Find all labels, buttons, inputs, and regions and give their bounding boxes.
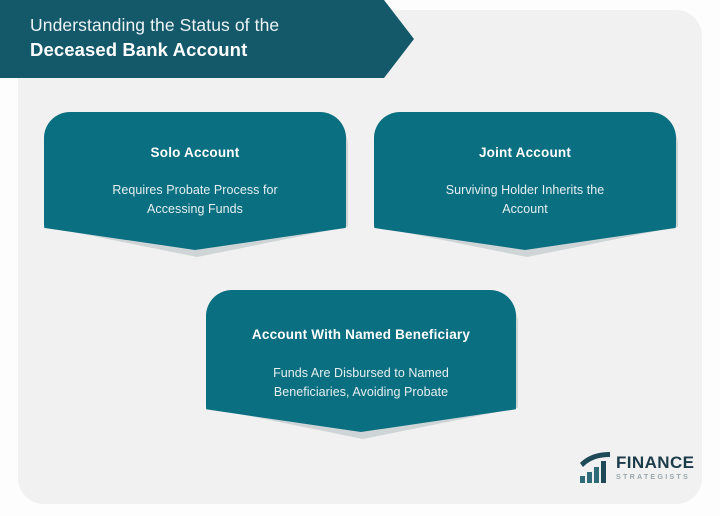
card-title: Account With Named Beneficiary xyxy=(252,326,470,344)
header-title-line2: Deceased Bank Account xyxy=(30,37,414,63)
logo-wordmark: FINANCE STRATEGISTS xyxy=(616,454,694,482)
logo-secondary-text: STRATEGISTS xyxy=(616,471,694,482)
card-description: Surviving Holder Inherits the Account xyxy=(425,181,625,219)
card-body: Joint Account Surviving Holder Inherits … xyxy=(374,112,676,250)
header-banner: Understanding the Status of the Deceased… xyxy=(0,0,414,78)
infographic-canvas: Understanding the Status of the Deceased… xyxy=(0,0,720,516)
header-title-line1: Understanding the Status of the xyxy=(30,13,414,37)
brand-logo: FINANCE STRATEGISTS xyxy=(578,448,698,488)
logo-primary-text: FINANCE xyxy=(616,454,694,471)
card-body: Account With Named Beneficiary Funds Are… xyxy=(206,290,516,432)
card-named-beneficiary-account: Account With Named Beneficiary Funds Are… xyxy=(206,290,516,432)
card-description: Requires Probate Process for Accessing F… xyxy=(95,181,295,219)
card-body: Solo Account Requires Probate Process fo… xyxy=(44,112,346,250)
card-description: Funds Are Disbursed to Named Beneficiari… xyxy=(245,364,477,402)
card-title: Joint Account xyxy=(479,144,571,162)
ascending-bar-chart-arrow-icon xyxy=(578,452,612,484)
card-joint-account: Joint Account Surviving Holder Inherits … xyxy=(374,112,676,250)
card-title: Solo Account xyxy=(151,144,240,162)
card-solo-account: Solo Account Requires Probate Process fo… xyxy=(44,112,346,250)
